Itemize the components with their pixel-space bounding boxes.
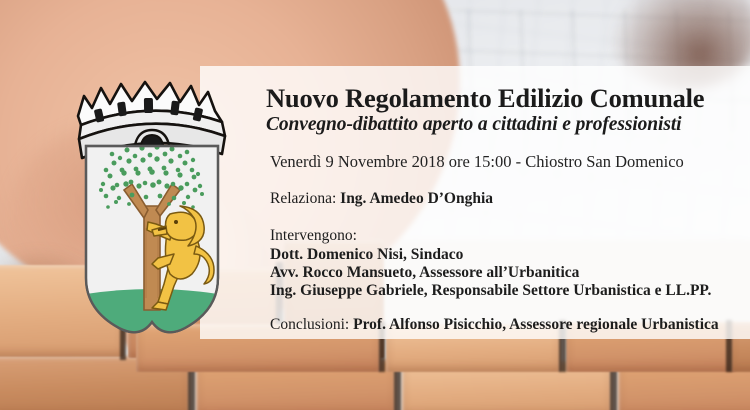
comune-coat-of-arms — [72, 78, 232, 340]
speaker-row: Relaziona: Ing. Amedeo D’Onghia — [270, 190, 493, 208]
participant-name-2: Avv. Rocco Mansueto, Assessore all’Urban… — [270, 264, 579, 282]
speaker-label: Relaziona: — [270, 190, 336, 207]
conclusions-row: Conclusioni: Prof. Alfonso Pisicchio, As… — [270, 316, 719, 334]
conclusions-name: Prof. Alfonso Pisicchio, Assessore regio… — [353, 316, 719, 333]
page-subtitle: Convegno-dibattito aperto a cittadini e … — [266, 114, 682, 136]
text-panel: Nuovo Regolamento Edilizio Comunale Conv… — [200, 66, 750, 339]
participant-name-1: Dott. Domenico Nisi, Sindaco — [270, 246, 463, 264]
participant-name-3: Ing. Giuseppe Gabriele, Responsabile Set… — [270, 282, 711, 300]
conclusions-label: Conclusioni: — [270, 316, 349, 333]
speaker-name: Ing. Amedeo D’Onghia — [340, 190, 493, 207]
page-title: Nuovo Regolamento Edilizio Comunale — [266, 83, 704, 114]
participants-label: Intervengono: — [270, 227, 357, 245]
event-poster: Nuovo Regolamento Edilizio Comunale Conv… — [0, 0, 750, 410]
event-datetime-venue: Venerdì 9 Novembre 2018 ore 15:00 - Chio… — [270, 152, 684, 172]
